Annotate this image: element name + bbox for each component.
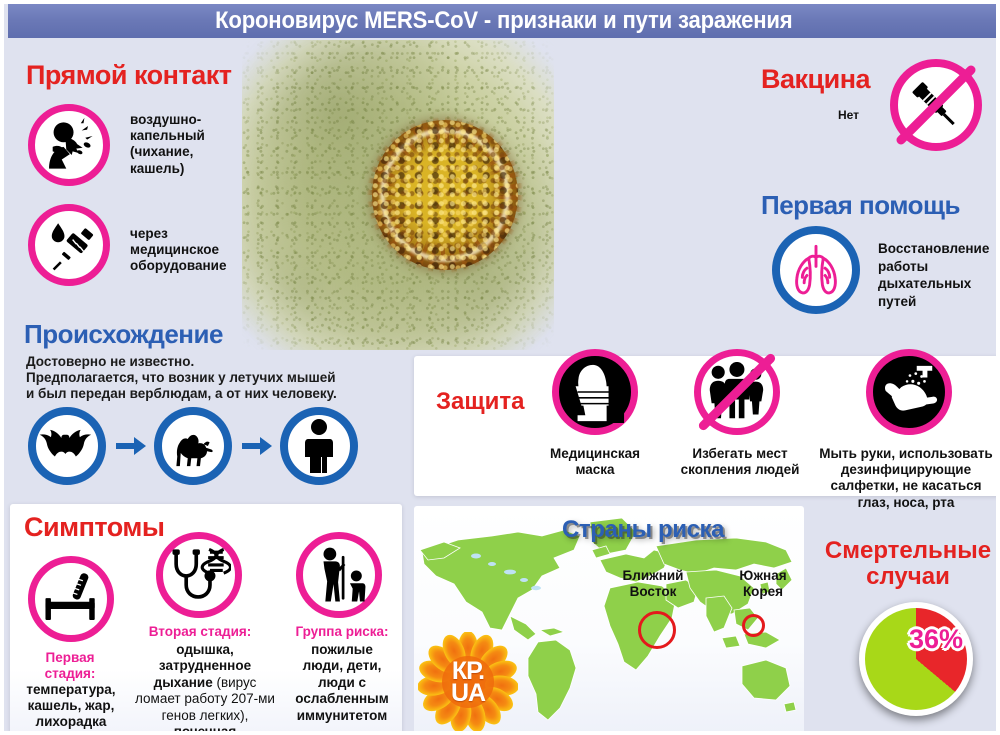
risk-marker-label-1: Ближний Восток [610, 568, 696, 599]
fatal-cases-pie-chart [859, 602, 973, 716]
elderly-child-icon [296, 532, 382, 618]
direct-contact-item-2-label: через медицинское оборудование [130, 226, 250, 275]
fatal-cases-heading: Смертельные случаи [816, 538, 1000, 591]
lungs-icon [772, 226, 860, 314]
symptom-3-label: Группа риска: [290, 624, 394, 640]
symptom-3-text: пожилые люди, дети, люди с ослабленным и… [286, 642, 398, 724]
symptom-1-text: температура, кашель, жар, лихорадка [12, 682, 130, 731]
risk-map-heading: Страны риска [562, 516, 724, 544]
poster-title-bar: Коронoвирус MERS-CoV - признаки и пути з… [8, 4, 1000, 38]
vaccine-heading: Вакцина [761, 64, 870, 95]
protection-caption-1: Медицинская маска [532, 446, 658, 478]
infographic-poster: Коронoвирус MERS-CoV - признаки и пути з… [0, 0, 1000, 735]
direct-contact-item-1-label: воздушно- капельный (чихание, кашель) [130, 112, 245, 177]
protection-caption-3: Мыть руки, использовать дезинфицирующие … [810, 446, 1000, 511]
wash-hands-icon [866, 349, 952, 435]
no-crowd-icon [694, 349, 780, 435]
risk-marker-label-2: Южная Корея [726, 568, 800, 599]
symptom-2-text: одышка, затрудненное дыхание (вирус лома… [132, 642, 278, 735]
symptom-2-label: Вторая стадия: [140, 624, 260, 640]
kp-ua-logo[interactable]: КР. UA [418, 632, 518, 732]
arrow-right-icon [116, 436, 146, 461]
risk-marker-circle-middle-east [638, 611, 676, 649]
risk-map: Страны риска Ближний Восток Южная Корея [414, 506, 804, 734]
virus-micrograph-image [242, 40, 554, 350]
symptom-1-label: Первая стадия: [20, 650, 120, 682]
poster-title: Коронoвирус MERS-CoV - признаки и пути з… [215, 7, 792, 35]
no-syringe-icon [890, 59, 982, 151]
virion-particle [372, 120, 518, 270]
logo-line-2: UA [451, 682, 485, 704]
camel-icon [154, 407, 232, 485]
pie-percent-label: 36% [909, 624, 963, 655]
protection-heading: Защита [436, 388, 525, 416]
first-aid-heading: Первая помощь [761, 190, 960, 221]
origin-description: Достоверно не известно. Предполагается, … [26, 354, 386, 402]
arrow-right-icon [242, 436, 272, 461]
bed-thermometer-icon [28, 556, 114, 642]
bat-icon [28, 407, 106, 485]
stethoscope-dna-icon [156, 532, 242, 618]
symptoms-heading: Симптомы [24, 512, 164, 543]
origin-heading: Происхождение [24, 319, 223, 350]
syringe-drop-icon [28, 204, 110, 286]
first-aid-text: Восстановление работы дыхательных путей [878, 240, 1000, 310]
protection-caption-2: Избегать мест скопления людей [672, 446, 808, 478]
direct-contact-heading: Прямой контакт [26, 60, 231, 91]
medical-mask-icon [552, 349, 638, 435]
risk-marker-circle-south-korea [742, 614, 765, 637]
symptom-2-bold-2: почечная недостаточность, диарея, пневмо… [140, 724, 270, 735]
sneezing-person-icon [28, 104, 110, 186]
person-icon [280, 407, 358, 485]
virion-speckle [372, 120, 518, 270]
vaccine-value: Нет [838, 108, 859, 122]
